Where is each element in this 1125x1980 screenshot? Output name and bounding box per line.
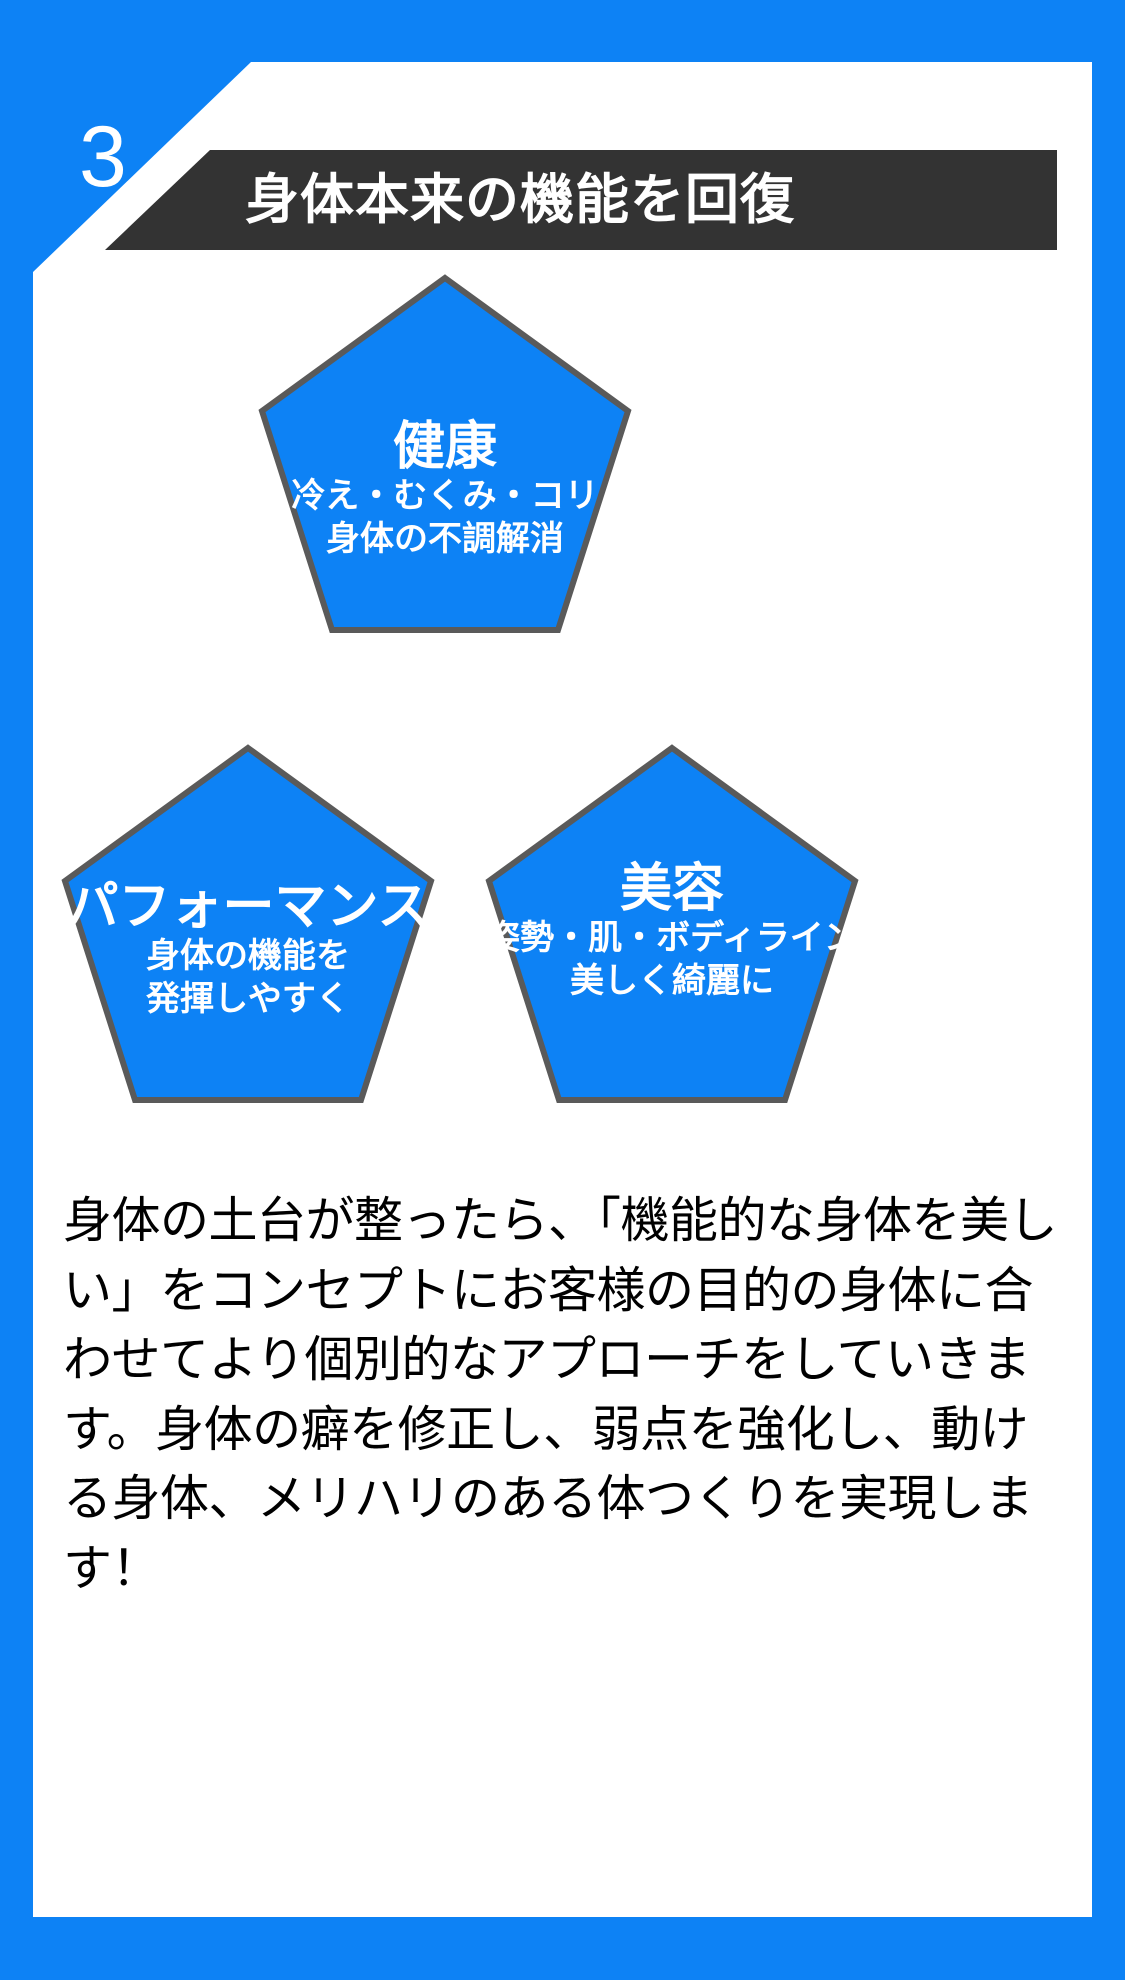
pentagon-beauty: 美容 姿勢・肌・ボディライン 美しく綺麗に bbox=[483, 742, 861, 1107]
pentagon-performance: パフォーマンス 身体の機能を 発揮しやすく bbox=[59, 742, 437, 1107]
pentagon-group: 健康 冷え・むくみ・コリ 身体の不調解消 パフォーマンス 身体の機能を 発揮しや… bbox=[33, 62, 1092, 1917]
pentagon-performance-shape bbox=[59, 742, 437, 1107]
pentagon-health-shape bbox=[256, 272, 634, 637]
body-paragraph: 身体の土台が整ったら、「機能的な身体を美しい」をコンセプトにお客様の目的の身体に… bbox=[63, 1187, 1063, 1604]
content-card: 3 身体本来の機能を回復 健康 冷え・むくみ・コリ 身体の不調解消 bbox=[33, 62, 1092, 1917]
page-frame: 3 身体本来の機能を回復 健康 冷え・むくみ・コリ 身体の不調解消 bbox=[0, 0, 1125, 1980]
pentagon-beauty-shape bbox=[483, 742, 861, 1107]
pentagon-health: 健康 冷え・むくみ・コリ 身体の不調解消 bbox=[256, 272, 634, 637]
